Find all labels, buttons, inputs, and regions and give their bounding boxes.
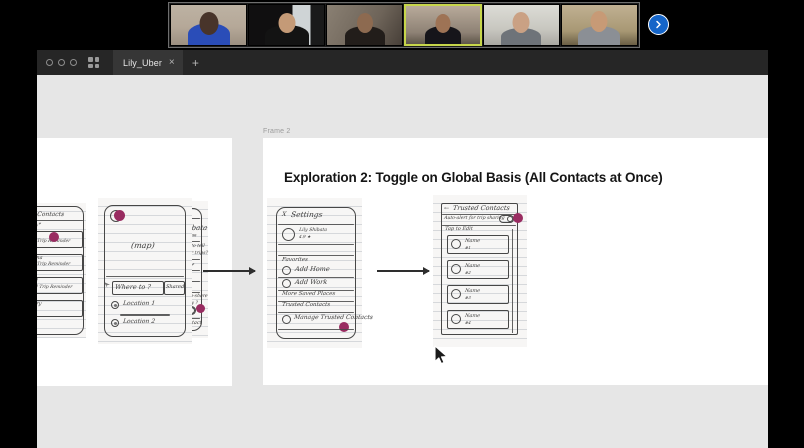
sketch-map-home-screen[interactable]: (map) Where to ? Shared Location 1 Locat… (98, 198, 192, 344)
close-icon[interactable]: X (282, 211, 287, 218)
participant-head (199, 12, 218, 35)
location-1-icon-inner (114, 304, 117, 307)
participant-head (591, 11, 608, 32)
add-work-label[interactable]: Add Work (295, 278, 328, 286)
location-1-label[interactable]: Location 1 (123, 300, 156, 307)
trusted-contacts-label[interactable]: Trusted Contacts (282, 302, 331, 308)
sketch-subheading: ual:* (37, 222, 41, 228)
more-saved-places-label[interactable]: More Saved Places (282, 291, 336, 297)
arrow-2 (203, 270, 255, 272)
browser-tab-lily-uber[interactable]: Lily_Uber × (113, 50, 183, 75)
contact-avatar-3 (451, 289, 461, 299)
grid-view-icon[interactable] (88, 57, 99, 68)
contact-name-1: Name (465, 238, 481, 244)
video-tile-participant-3[interactable] (326, 4, 403, 46)
participant-head (278, 13, 295, 33)
annotation-dot (49, 232, 59, 242)
profile-rating: 4.9 ★ (299, 234, 311, 239)
profile-name: Lily Shibata (299, 228, 328, 233)
window-controls[interactable] (43, 59, 77, 66)
video-tile-participant-4[interactable] (404, 4, 481, 46)
manage-trusted-contacts-label[interactable]: Manage Trusted Contacts (294, 314, 374, 321)
chevron-right-icon (654, 20, 663, 29)
contact-row-2-sub: ed Trip Reminder (37, 262, 71, 267)
annotation-dot (114, 210, 125, 221)
location-2-label[interactable]: Location 2 (123, 318, 156, 325)
profile-avatar[interactable] (282, 228, 295, 241)
video-tile-participant-6[interactable] (561, 4, 638, 46)
video-tile-participant-1[interactable] (170, 4, 247, 46)
search-placeholder: Where to ? (115, 283, 152, 291)
maximize-window-dot[interactable] (70, 59, 77, 66)
location-2-icon-inner (114, 322, 117, 325)
tap-to-edit-hint: Tap to Edit (445, 226, 474, 232)
annotation-dot (513, 213, 523, 223)
annotation-dot (196, 304, 205, 313)
participant-head (357, 13, 373, 33)
contact-sub-1: #1 (465, 245, 472, 250)
contact-row-4[interactable] (37, 300, 83, 317)
contact-row-3-sub: red Trip Reminder (37, 285, 73, 290)
arrow-3 (377, 270, 429, 272)
scroll-edge (512, 229, 513, 333)
next-participants-button[interactable] (648, 14, 669, 35)
sketch-trusted-contacts-list[interactable]: nt Contacts ual:* ck ed Trip Reminder on… (37, 203, 86, 338)
contact-row-4-label: gory (37, 301, 42, 307)
new-tab-button[interactable]: + (183, 57, 208, 69)
frame-label: Frame 2 (263, 128, 290, 135)
sketch-settings-screen[interactable]: X Settings Lily Shibata 4.9 ★ Favorites … (267, 198, 362, 348)
contact-avatar-4 (451, 314, 461, 324)
contact-name-3: Name (465, 288, 481, 294)
video-tile-participant-5[interactable] (483, 4, 560, 46)
tab-title: Lily_Uber (123, 58, 162, 68)
contact-sub-2: #2 (465, 270, 472, 275)
shared-button-label: Shared (166, 284, 185, 290)
screen-title: Trusted Contacts (453, 204, 511, 212)
frame-title: Exploration 2: Toggle on Global Basis (A… (284, 170, 663, 185)
sketch-trusted-contacts-screen[interactable]: ← Trusted Contacts Auto-alert for trip s… (433, 195, 527, 347)
close-window-dot[interactable] (46, 59, 53, 66)
favorites-section-label: Favorites (282, 257, 309, 263)
screen-root: Lily_Uber × + Frame 2 Exploration 2: Tog… (0, 0, 804, 448)
contact-avatar-2 (451, 264, 461, 274)
video-participant-strip (168, 2, 640, 48)
browser-tab-bar: Lily_Uber × + (37, 50, 768, 75)
add-home-label[interactable]: Add Home (295, 265, 331, 273)
annotation-dot (339, 322, 349, 332)
contact-name-4: Name (465, 313, 481, 319)
contact-sub-4: #4 (465, 320, 472, 325)
settings-title: Settings (290, 210, 323, 219)
contact-sub-3: #3 (465, 295, 472, 300)
toggle-label: Auto-alert for trip sharing (444, 216, 505, 221)
contact-avatar-1 (451, 239, 461, 249)
divider (120, 314, 170, 316)
sketch-heading: nt Contacts (37, 211, 65, 218)
video-tile-participant-2[interactable] (248, 4, 325, 46)
mouse-cursor (434, 345, 450, 367)
participant-head (513, 12, 530, 33)
back-arrow-icon[interactable]: ← (444, 205, 450, 212)
shield-icon (282, 315, 291, 324)
browser-window: Lily_Uber × + Frame 2 Exploration 2: Tog… (37, 50, 768, 448)
close-icon[interactable]: × (169, 58, 175, 68)
contact-row-2-label: onna (37, 255, 43, 261)
map-label: (map) (130, 241, 155, 250)
minimize-window-dot[interactable] (58, 59, 65, 66)
briefcase-icon (282, 279, 291, 288)
contact-name-2: Name (465, 263, 481, 269)
home-icon (282, 266, 291, 275)
design-canvas[interactable]: Frame 2 Exploration 2: Toggle on Global … (37, 75, 768, 448)
participant-head (436, 14, 451, 33)
